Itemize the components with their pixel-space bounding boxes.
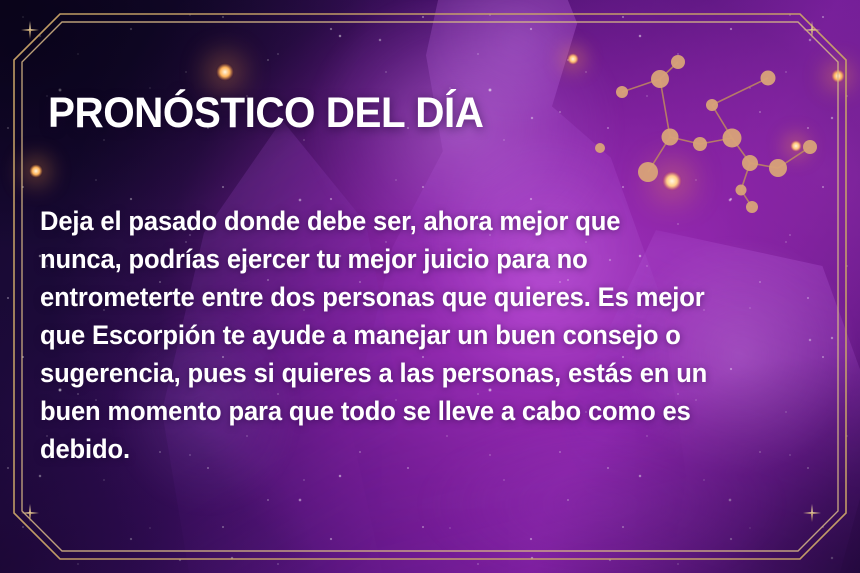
forecast-line: buen momento para que todo se lleve a ca… xyxy=(40,392,812,430)
forecast-line: debido. xyxy=(40,430,812,468)
page-title: PRONÓSTICO DEL DÍA xyxy=(48,92,483,135)
forecast-line: nunca, podrías ejercer tu mejor juicio p… xyxy=(40,240,812,278)
card-content: PRONÓSTICO DEL DÍA Deja el pasado donde … xyxy=(0,0,860,573)
forecast-line: Deja el pasado donde debe ser, ahora mej… xyxy=(40,202,812,240)
forecast-line: entrometerte entre dos personas que quie… xyxy=(40,278,812,316)
horoscope-forecast-card: PRONÓSTICO DEL DÍA Deja el pasado donde … xyxy=(0,0,860,573)
forecast-line: sugerencia, pues si quieres a las person… xyxy=(40,354,812,392)
forecast-text: Deja el pasado donde debe ser, ahora mej… xyxy=(40,202,812,468)
forecast-line: que Escorpión te ayude a manejar un buen… xyxy=(40,316,812,354)
